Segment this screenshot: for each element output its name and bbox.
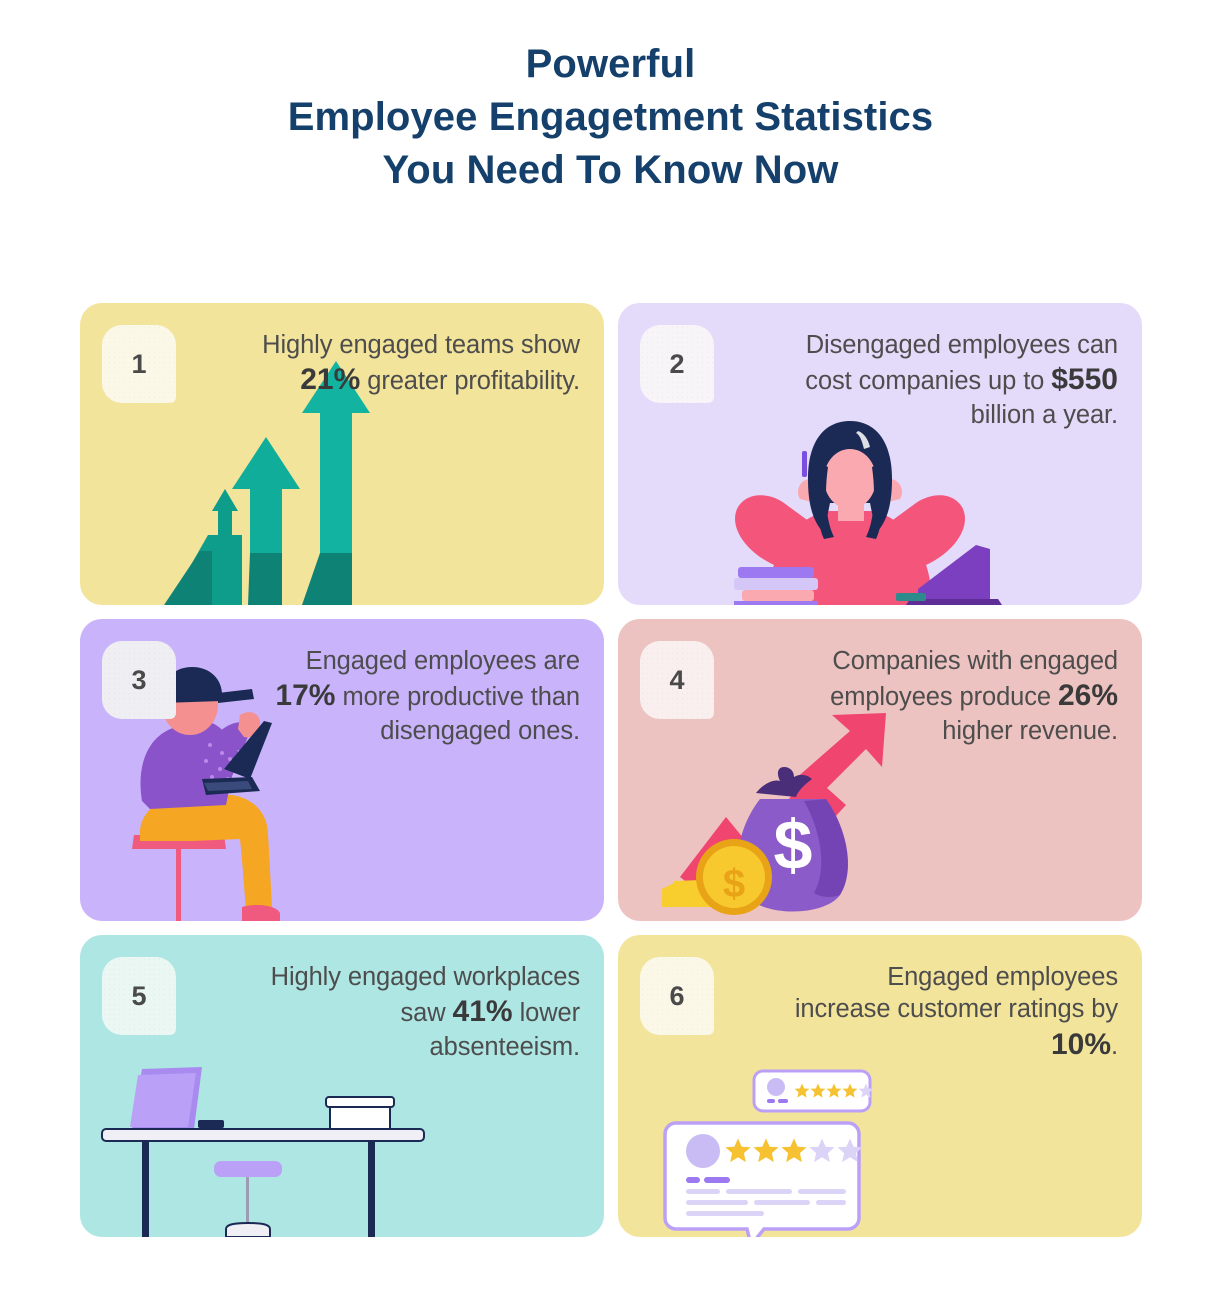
card-text-6-part-a: Engaged employees increase customer rati… <box>795 963 1118 1023</box>
page-title: Powerful Employee Engagetment Statistics… <box>0 38 1221 196</box>
card-number-1: 1 <box>131 349 146 380</box>
card-number-badge-6: 6 <box>640 957 714 1035</box>
card-text-1-part-b: greater profitability. <box>360 367 580 395</box>
card-stat-3: 17% <box>275 679 335 712</box>
card-stat-4: 26% <box>1058 679 1118 712</box>
card-text-3-part-a: Engaged employees are <box>306 647 580 675</box>
svg-text:$: $ <box>774 806 813 884</box>
card-number-5: 5 <box>131 981 146 1012</box>
stat-card-3: 3 Engaged employees are 17% more product… <box>80 619 604 921</box>
card-text-1: Highly engaged teams show 21% greater pr… <box>250 329 580 399</box>
stat-card-6: 6 Engaged employees increase customer ra… <box>618 935 1142 1237</box>
card-text-5: Highly engaged workplaces saw 41% lower … <box>250 961 580 1064</box>
card-number-6: 6 <box>669 981 684 1012</box>
card-number-badge-1: 1 <box>102 325 176 403</box>
title-line-2: Employee Engagetment Statistics <box>0 91 1221 144</box>
card-number-2: 2 <box>669 349 684 380</box>
large-review-card <box>665 1123 863 1237</box>
card-text-2-part-b: billion a year. <box>971 401 1118 429</box>
stat-card-5: 5 Highly engaged workplaces saw 41% lowe… <box>80 935 604 1237</box>
card-number-4: 4 <box>669 665 684 696</box>
card-number-3: 3 <box>131 665 146 696</box>
card-text-6-part-b: . <box>1111 1032 1118 1060</box>
card-text-4: Companies with engaged employees produce… <box>788 645 1118 748</box>
stat-card-4: $ $ 4 Companies with engaged employees p… <box>618 619 1142 921</box>
card-stat-5: 41% <box>453 995 513 1028</box>
card-number-badge-4: 4 <box>640 641 714 719</box>
card-stat-6: 10% <box>1051 1028 1111 1061</box>
card-number-badge-3: 3 <box>102 641 176 719</box>
card-stat-1: 21% <box>300 363 360 396</box>
card-stat-2: $550 <box>1051 363 1118 396</box>
card-text-4-part-b: higher revenue. <box>942 717 1118 745</box>
svg-text:$: $ <box>723 862 745 906</box>
card-text-3: Engaged employees are 17% more productiv… <box>250 645 580 748</box>
card-text-3-part-b: more productive than disengaged ones. <box>335 683 580 745</box>
card-text-6: Engaged employees increase customer rati… <box>788 961 1118 1064</box>
card-number-badge-5: 5 <box>102 957 176 1035</box>
card-text-1-part-a: Highly engaged teams show <box>262 331 580 359</box>
title-line-1: Powerful <box>0 38 1221 91</box>
infographic-page: Powerful Employee Engagetment Statistics… <box>0 0 1221 1308</box>
card-text-2: Disengaged employees can cost companies … <box>788 329 1118 432</box>
title-line-3: You Need To Know Now <box>0 144 1221 197</box>
small-review-card <box>754 1071 873 1111</box>
stats-grid: 1 Highly engaged teams show 21% greater … <box>80 303 1142 1237</box>
card-number-badge-2: 2 <box>640 325 714 403</box>
stat-card-2: 2 Disengaged employees can cost companie… <box>618 303 1142 605</box>
stat-card-1: 1 Highly engaged teams show 21% greater … <box>80 303 604 605</box>
